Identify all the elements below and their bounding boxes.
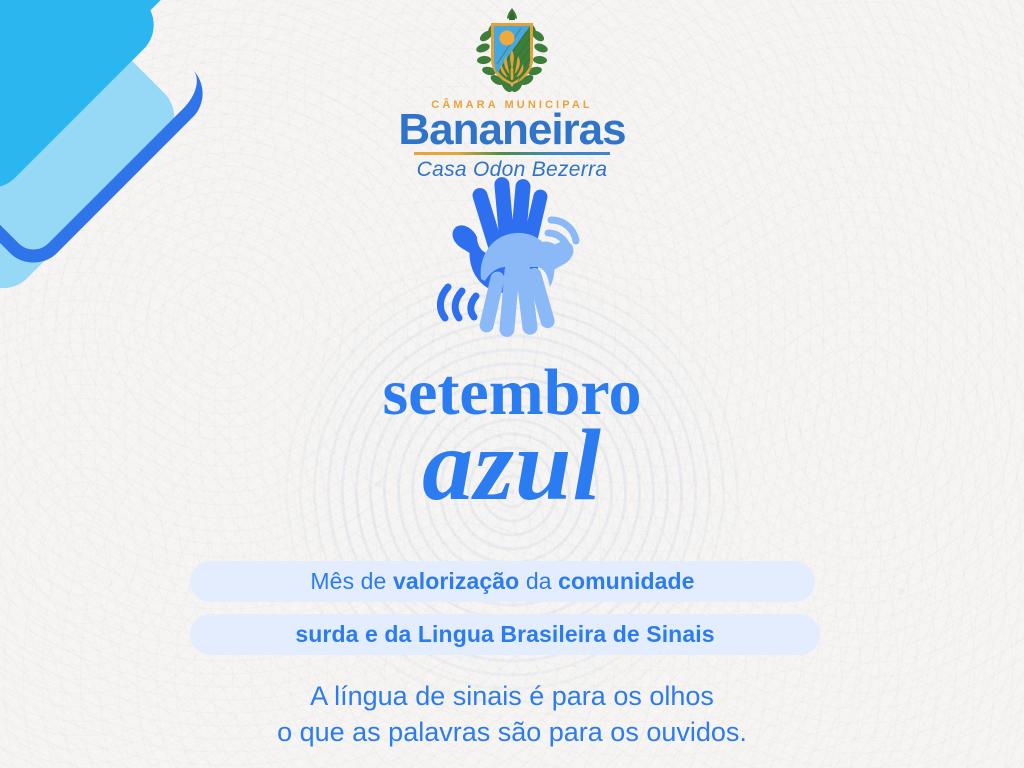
title-line-azul: azul [0, 420, 1024, 512]
logo-line-bananeiras: Bananeiras [398, 110, 625, 150]
logo-divider-rule [414, 152, 610, 155]
main-title: setembro azul [0, 363, 1024, 512]
tagline-line-1: A língua de sinais é para os olhos [0, 679, 1024, 715]
pill-line-2-text: surda e da Lingua Brasileira de Sinais [295, 621, 714, 648]
signing-hands-icon [424, 175, 600, 340]
poster-canvas: CÂMARA MUNICIPAL Bananeiras Casa Odon Be… [0, 0, 1024, 768]
municipal-logo: CÂMARA MUNICIPAL Bananeiras Casa Odon Be… [0, 6, 1024, 182]
tagline: A língua de sinais é para os olhos o que… [0, 679, 1024, 750]
pill-line-2: surda e da Lingua Brasileira de Sinais [190, 614, 820, 655]
coat-of-arms-icon [464, 6, 560, 98]
pill-line-1: Mês de valorização da comunidade [190, 561, 815, 602]
pill-line-1-text: Mês de valorização da comunidade [310, 568, 694, 595]
tagline-line-2: o que as palavras são para os ouvidos. [0, 715, 1024, 751]
